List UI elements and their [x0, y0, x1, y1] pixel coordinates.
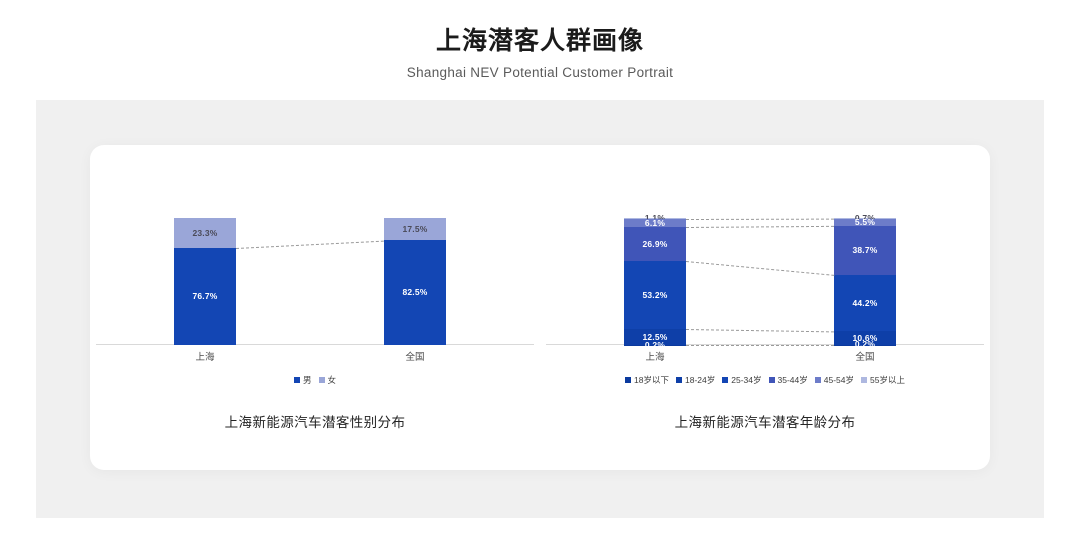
- segment-男[interactable]: 82.5%: [384, 240, 446, 345]
- connector-line: [686, 261, 834, 276]
- segment-女[interactable]: 23.3%: [174, 218, 236, 248]
- page-root: 上海潜客人群画像 Shanghai NEV Potential Customer…: [0, 0, 1080, 547]
- category-label-上海: 上海: [174, 349, 236, 363]
- legend-label: 45-54岁: [824, 374, 854, 386]
- legend-label: 女: [328, 374, 337, 386]
- page-title: 上海潜客人群画像: [0, 0, 1080, 56]
- segment-value-label: 44.2%: [852, 299, 877, 308]
- age-chart: 1.1%6.1%26.9%53.2%12.5%0.2%0.7%5.5%38.7%…: [540, 145, 990, 470]
- legend-label: 25-34岁: [731, 374, 761, 386]
- segment-45-54岁[interactable]: 5.5%: [834, 219, 896, 226]
- legend-swatch-icon: [722, 377, 728, 383]
- legend-swatch-icon: [319, 377, 325, 383]
- segment-35-44岁[interactable]: 38.7%: [834, 226, 896, 275]
- category-label-全国: 全国: [384, 349, 446, 363]
- segment-女[interactable]: 17.5%: [384, 218, 446, 240]
- page-header: 上海潜客人群画像 Shanghai NEV Potential Customer…: [0, 0, 1080, 80]
- legend-label: 35-44岁: [778, 374, 808, 386]
- connector-line: [686, 329, 834, 332]
- legend-swatch-icon: [861, 377, 867, 383]
- segment-男[interactable]: 76.7%: [174, 248, 236, 345]
- segment-value-label: 26.9%: [642, 240, 667, 249]
- bar-上海[interactable]: 1.1%6.1%26.9%53.2%12.5%0.2%: [624, 218, 686, 345]
- legend-label: 18-24岁: [685, 374, 715, 386]
- segment-value-label: 53.2%: [642, 291, 667, 300]
- segment-value-label: 82.5%: [402, 288, 427, 297]
- age-chart-plot: 1.1%6.1%26.9%53.2%12.5%0.2%0.7%5.5%38.7%…: [540, 145, 990, 345]
- bar-全国[interactable]: 17.5%82.5%: [384, 218, 446, 345]
- age-chart-legend: 18岁以下18-24岁25-34岁35-44岁45-54岁55岁以上: [540, 371, 990, 389]
- category-label-上海: 上海: [624, 349, 686, 363]
- legend-item-女[interactable]: 女: [319, 374, 337, 386]
- legend-label: 18岁以下: [634, 374, 669, 386]
- legend-swatch-icon: [769, 377, 775, 383]
- legend-item-35-44岁[interactable]: 35-44岁: [769, 374, 808, 386]
- gender-chart-plot: 23.3%76.7%17.5%82.5%: [90, 145, 540, 345]
- legend-label: 55岁以上: [870, 374, 905, 386]
- legend-item-男[interactable]: 男: [294, 374, 312, 386]
- legend-item-25-34岁[interactable]: 25-34岁: [722, 374, 761, 386]
- category-labels: 上海全国: [540, 345, 990, 365]
- category-label-全国: 全国: [834, 349, 896, 363]
- gender-chart-caption: 上海新能源汽车潜客性别分布: [90, 411, 540, 431]
- legend-item-55岁以上[interactable]: 55岁以上: [861, 374, 905, 386]
- gender-chart-legend: 男女: [90, 371, 540, 389]
- segment-value-label: 38.7%: [852, 246, 877, 255]
- charts-card: 23.3%76.7%17.5%82.5%上海全国男女上海新能源汽车潜客性别分布1…: [90, 145, 990, 470]
- legend-swatch-icon: [625, 377, 631, 383]
- legend-swatch-icon: [676, 377, 682, 383]
- segment-value-label: 23.3%: [192, 229, 217, 238]
- content-panel: 23.3%76.7%17.5%82.5%上海全国男女上海新能源汽车潜客性别分布1…: [36, 100, 1044, 518]
- segment-value-label: 76.7%: [192, 292, 217, 301]
- bar-上海[interactable]: 23.3%76.7%: [174, 218, 236, 345]
- page-subtitle: Shanghai NEV Potential Customer Portrait: [0, 56, 1080, 80]
- segment-35-44岁[interactable]: 26.9%: [624, 227, 686, 261]
- connector-line: [236, 240, 384, 248]
- connector-line: [686, 226, 834, 228]
- charts-row: 23.3%76.7%17.5%82.5%上海全国男女上海新能源汽车潜客性别分布1…: [90, 145, 990, 470]
- segment-45-54岁[interactable]: 6.1%: [624, 219, 686, 227]
- legend-swatch-icon: [815, 377, 821, 383]
- bar-全国[interactable]: 0.7%5.5%38.7%44.2%10.6%0.2%: [834, 218, 896, 345]
- legend-item-45-54岁[interactable]: 45-54岁: [815, 374, 854, 386]
- legend-swatch-icon: [294, 377, 300, 383]
- category-labels: 上海全国: [90, 345, 540, 365]
- legend-item-18-24岁[interactable]: 18-24岁: [676, 374, 715, 386]
- legend-item-18岁以下[interactable]: 18岁以下: [625, 374, 669, 386]
- segment-25-34岁[interactable]: 44.2%: [834, 275, 896, 331]
- segment-25-34岁[interactable]: 53.2%: [624, 261, 686, 329]
- connector-line: [686, 219, 834, 220]
- segment-value-label: 17.5%: [402, 225, 427, 234]
- age-chart-caption: 上海新能源汽车潜客年龄分布: [540, 411, 990, 431]
- legend-label: 男: [303, 374, 312, 386]
- gender-chart: 23.3%76.7%17.5%82.5%上海全国男女上海新能源汽车潜客性别分布: [90, 145, 540, 470]
